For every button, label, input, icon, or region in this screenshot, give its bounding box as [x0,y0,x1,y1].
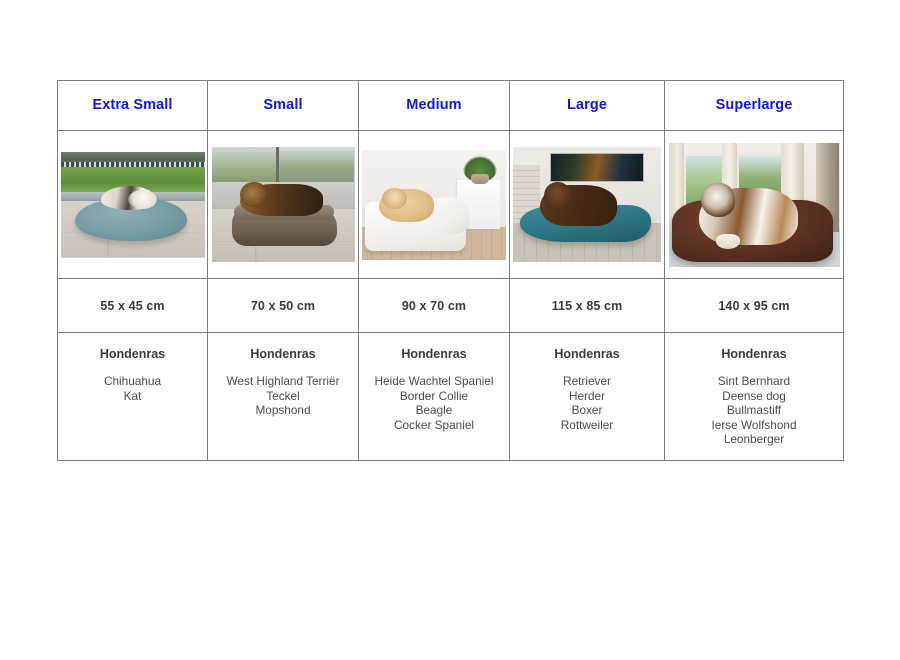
dimensions-medium: 90 x 70 cm [359,299,509,313]
list-item: Teckel [208,389,358,404]
table-photo-row [58,131,844,279]
breed-title-extra-small: Hondenras [58,347,207,361]
list-item: Border Collie [359,389,509,404]
breeds-cell-small: Hondenras West Highland Terriër Teckel M… [208,333,359,461]
list-item: Boxer [510,403,664,418]
size-label-large: Large [510,98,664,114]
breeds-cell-large: Hondenras Retriever Herder Boxer Rottwei… [510,333,665,461]
breeds-cell-superlarge: Hondenras Sint Bernhard Deense dog Bullm… [665,333,844,461]
breed-title-medium: Hondenras [359,347,509,361]
photo-cell-extra-small [58,131,208,279]
list-item: Heide Wachtel Spaniel [359,374,509,389]
list-item: West Highland Terriër [208,374,358,389]
list-item: Rottweiler [510,418,664,433]
dog-bed-size-table: Extra Small Small Medium Large Superlarg… [57,80,844,461]
list-item: Mopshond [208,403,358,418]
dimensions-cell-extra-small: 55 x 45 cm [58,279,208,333]
list-item: Kat [58,389,207,404]
list-item: Deense dog [665,389,843,404]
dimensions-superlarge: 140 x 95 cm [665,299,843,313]
photo-cell-superlarge [665,131,844,279]
table-breeds-row: Hondenras Chihuahua Kat Hondenras West H… [58,333,844,461]
breed-list-large: Retriever Herder Boxer Rottweiler [510,374,664,432]
dimensions-cell-large: 115 x 85 cm [510,279,665,333]
header-cell-large: Large [510,81,665,131]
product-photo-large [513,147,661,262]
dimensions-cell-medium: 90 x 70 cm [359,279,510,333]
breed-title-superlarge: Hondenras [665,347,843,361]
header-cell-medium: Medium [359,81,510,131]
header-cell-extra-small: Extra Small [58,81,208,131]
product-photo-extra-small [61,152,205,258]
breed-title-large: Hondenras [510,347,664,361]
photo-cell-small [208,131,359,279]
size-label-superlarge: Superlarge [665,98,843,114]
list-item: Cocker Spaniel [359,418,509,433]
list-item: Beagle [359,403,509,418]
breeds-cell-extra-small: Hondenras Chihuahua Kat [58,333,208,461]
size-label-medium: Medium [359,98,509,114]
breeds-cell-medium: Hondenras Heide Wachtel Spaniel Border C… [359,333,510,461]
product-photo-superlarge [669,143,840,267]
product-photo-small [212,147,355,262]
list-item: Herder [510,389,664,404]
table-header-row: Extra Small Small Medium Large Superlarg… [58,81,844,131]
dimensions-cell-small: 70 x 50 cm [208,279,359,333]
product-photo-medium [362,150,506,260]
header-cell-superlarge: Superlarge [665,81,844,131]
photo-cell-medium [359,131,510,279]
breed-list-superlarge: Sint Bernhard Deense dog Bullmastiff Ier… [665,374,843,447]
list-item: Leonberger [665,432,843,447]
dimensions-small: 70 x 50 cm [208,299,358,313]
list-item: Ierse Wolfshond [665,418,843,433]
table-dimensions-row: 55 x 45 cm 70 x 50 cm 90 x 70 cm 115 x 8… [58,279,844,333]
list-item: Bullmastiff [665,403,843,418]
size-label-small: Small [208,98,358,114]
breed-list-extra-small: Chihuahua Kat [58,374,207,403]
dimensions-extra-small: 55 x 45 cm [58,299,207,313]
header-cell-small: Small [208,81,359,131]
dimensions-large: 115 x 85 cm [510,299,664,313]
photo-cell-large [510,131,665,279]
breed-list-medium: Heide Wachtel Spaniel Border Collie Beag… [359,374,509,432]
dimensions-cell-superlarge: 140 x 95 cm [665,279,844,333]
breed-list-small: West Highland Terriër Teckel Mopshond [208,374,358,418]
list-item: Chihuahua [58,374,207,389]
list-item: Sint Bernhard [665,374,843,389]
list-item: Retriever [510,374,664,389]
breed-title-small: Hondenras [208,347,358,361]
size-label-extra-small: Extra Small [58,98,207,114]
page-canvas: Extra Small Small Medium Large Superlarg… [0,0,900,660]
